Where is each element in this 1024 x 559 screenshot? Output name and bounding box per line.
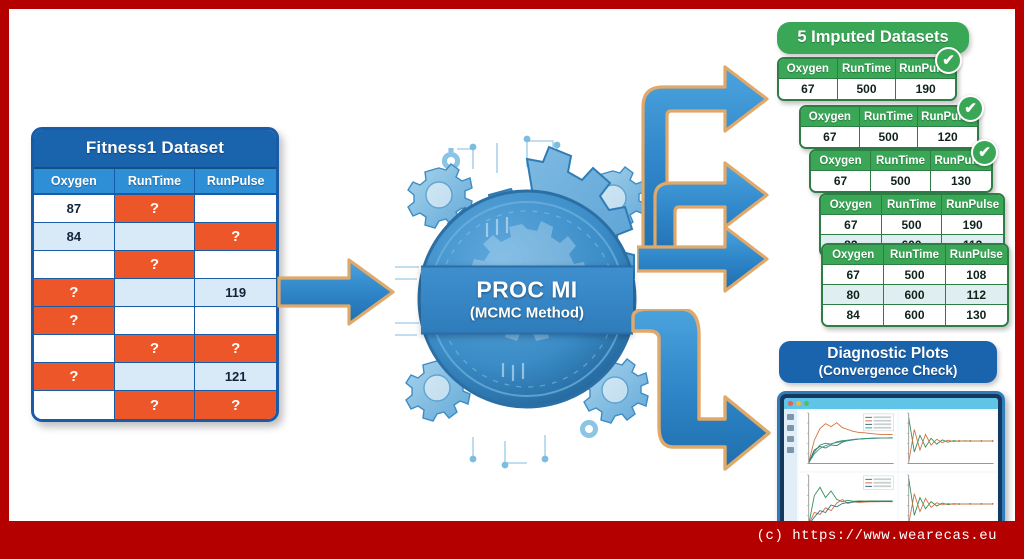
data-cell [115, 279, 196, 307]
missing-value-cell: ? [115, 251, 196, 279]
line-chart-icon[interactable] [787, 436, 794, 442]
missing-value-cell: ? [195, 391, 276, 419]
missing-value-cell: ? [195, 223, 276, 251]
imputed-value-cell: 67 [801, 127, 860, 147]
imputed-value-cell: 108 [946, 265, 1007, 285]
data-cell [115, 307, 196, 335]
table-row: ? [34, 251, 276, 279]
column-header-runtime: RunTime [882, 195, 943, 215]
missing-value-cell: ? [115, 335, 196, 363]
column-header-runpulse: RunPulse [946, 245, 1007, 265]
diagnostic-badge-line1: Diagnostic Plots [827, 346, 948, 362]
table-row: 84600130 [823, 305, 1007, 325]
grid-icon[interactable] [787, 447, 794, 453]
imputed-table-header-row: OxygenRunTimeRunPulse [823, 245, 1007, 265]
data-cell [115, 363, 196, 391]
proc-mi-label: PROC MI (MCMC Method) [421, 265, 633, 334]
arrow-branch-to-datasets [637, 47, 797, 337]
data-cell [195, 251, 276, 279]
diagnostic-chart [899, 411, 997, 471]
minimize-icon[interactable] [796, 401, 801, 406]
imputed-table-header-row: OxygenRunTimeRunPulse [801, 107, 977, 127]
data-cell [34, 391, 115, 419]
maximize-icon[interactable] [804, 401, 809, 406]
missing-value-cell: ? [34, 363, 115, 391]
missing-value-cell: ? [115, 195, 196, 223]
source-table-header-row: Oxygen RunTime RunPulse [34, 169, 276, 195]
column-header-runtime: RunTime [871, 151, 931, 171]
watermark-text: (c) https://www.wearecas.eu [9, 521, 1015, 550]
column-header-oxygen: Oxygen [779, 59, 838, 79]
column-header-runpulse: RunPulse [942, 195, 1003, 215]
column-header-runtime: RunTime [860, 107, 919, 127]
imputed-value-cell: 500 [871, 171, 931, 191]
data-cell: 84 [34, 223, 115, 251]
check-icon: ✔ [935, 47, 962, 74]
table-row: ?119 [34, 279, 276, 307]
imputed-value-cell: 600 [884, 285, 945, 305]
missing-value-cell: ? [34, 279, 115, 307]
imputed-value-cell: 500 [884, 265, 945, 285]
source-table-title: Fitness1 Dataset [34, 130, 276, 169]
imputed-value-cell: 500 [882, 215, 943, 235]
imputed-value-cell: 112 [946, 285, 1007, 305]
table-row: ?? [34, 391, 276, 419]
imputed-dataset-table: OxygenRunTimeRunPulse6750010880600112846… [821, 243, 1009, 327]
diagnostic-plots-badge: Diagnostic Plots (Convergence Check) [779, 341, 997, 383]
column-header-oxygen: Oxygen [823, 245, 884, 265]
column-header-runtime: RunTime [115, 169, 196, 195]
figure-frame: Fitness1 Dataset Oxygen RunTime RunPulse… [0, 0, 1024, 559]
column-header-oxygen: Oxygen [811, 151, 871, 171]
imputed-value-cell: 80 [823, 285, 884, 305]
table-row: 87? [34, 195, 276, 223]
table-row: 67500190 [821, 215, 1003, 235]
imputed-table-header-row: OxygenRunTimeRunPulse [821, 195, 1003, 215]
diagnostic-plots-window[interactable] [777, 391, 1005, 536]
table-row: 67500130 [811, 171, 991, 191]
diagnostic-plot-grid [797, 409, 998, 529]
imputed-dataset-table: OxygenRunTimeRunPulse67500190 [777, 57, 957, 101]
table-row: ? [34, 307, 276, 335]
data-cell [195, 307, 276, 335]
data-cell: 87 [34, 195, 115, 223]
imputed-value-cell: 67 [779, 79, 838, 99]
table-row: ?121 [34, 363, 276, 391]
data-cell: 121 [195, 363, 276, 391]
imputed-value-cell: 190 [896, 79, 955, 99]
imputed-value-cell: 130 [931, 171, 991, 191]
source-table-body: 87?84???119????121?? [34, 195, 276, 419]
table-row: 67500108 [823, 265, 1007, 285]
check-icon: ✔ [957, 95, 984, 122]
table-row: 67500120 [801, 127, 977, 147]
imputed-value-cell: 130 [946, 305, 1007, 325]
pointer-icon[interactable] [787, 414, 794, 420]
imputed-value-cell: 67 [821, 215, 882, 235]
missing-value-cell: ? [34, 307, 115, 335]
check-icon: ✔ [971, 139, 998, 166]
imputed-value-cell: 67 [823, 265, 884, 285]
data-cell: 119 [195, 279, 276, 307]
window-titlebar [784, 398, 998, 409]
proc-mi-title: PROC MI [421, 276, 633, 303]
imputed-table-header-row: OxygenRunTimeRunPulse [811, 151, 991, 171]
table-row: 67500190 [779, 79, 955, 99]
imputed-value-cell: 120 [918, 127, 977, 147]
source-dataset-table: Fitness1 Dataset Oxygen RunTime RunPulse… [31, 127, 279, 422]
data-cell [34, 251, 115, 279]
diagnostic-window-body [784, 409, 998, 529]
diagnostic-badge-line2: (Convergence Check) [819, 364, 958, 378]
bar-chart-icon[interactable] [787, 425, 794, 431]
imputed-value-cell: 84 [823, 305, 884, 325]
diagnostic-window-inner [784, 398, 998, 529]
imputed-value-cell: 600 [884, 305, 945, 325]
imputed-table-header-row: OxygenRunTimeRunPulse [779, 59, 955, 79]
column-header-oxygen: Oxygen [801, 107, 860, 127]
data-cell [34, 335, 115, 363]
column-header-oxygen: Oxygen [821, 195, 882, 215]
data-cell [195, 195, 276, 223]
diagnostic-toolbar [784, 409, 797, 529]
missing-value-cell: ? [195, 335, 276, 363]
imputed-value-cell: 500 [860, 127, 919, 147]
diagnostic-chart [799, 411, 897, 471]
close-icon[interactable] [788, 401, 793, 406]
missing-value-cell: ? [115, 391, 196, 419]
column-header-runtime: RunTime [838, 59, 897, 79]
data-cell [115, 223, 196, 251]
table-row: 84? [34, 223, 276, 251]
column-header-runtime: RunTime [884, 245, 945, 265]
table-row: ?? [34, 335, 276, 363]
imputed-dataset-table: OxygenRunTimeRunPulse67500130 [809, 149, 993, 193]
imputed-dataset-table: OxygenRunTimeRunPulse67500120 [799, 105, 979, 149]
imputed-value-cell: 67 [811, 171, 871, 191]
column-header-runpulse: RunPulse [195, 169, 276, 195]
proc-mi-subtitle: (MCMC Method) [421, 304, 633, 321]
diagram-stage: Fitness1 Dataset Oxygen RunTime RunPulse… [9, 9, 1015, 550]
column-header-oxygen: Oxygen [34, 169, 115, 195]
imputed-value-cell: 500 [838, 79, 897, 99]
imputed-value-cell: 190 [942, 215, 1003, 235]
table-row: 80600112 [823, 285, 1007, 305]
